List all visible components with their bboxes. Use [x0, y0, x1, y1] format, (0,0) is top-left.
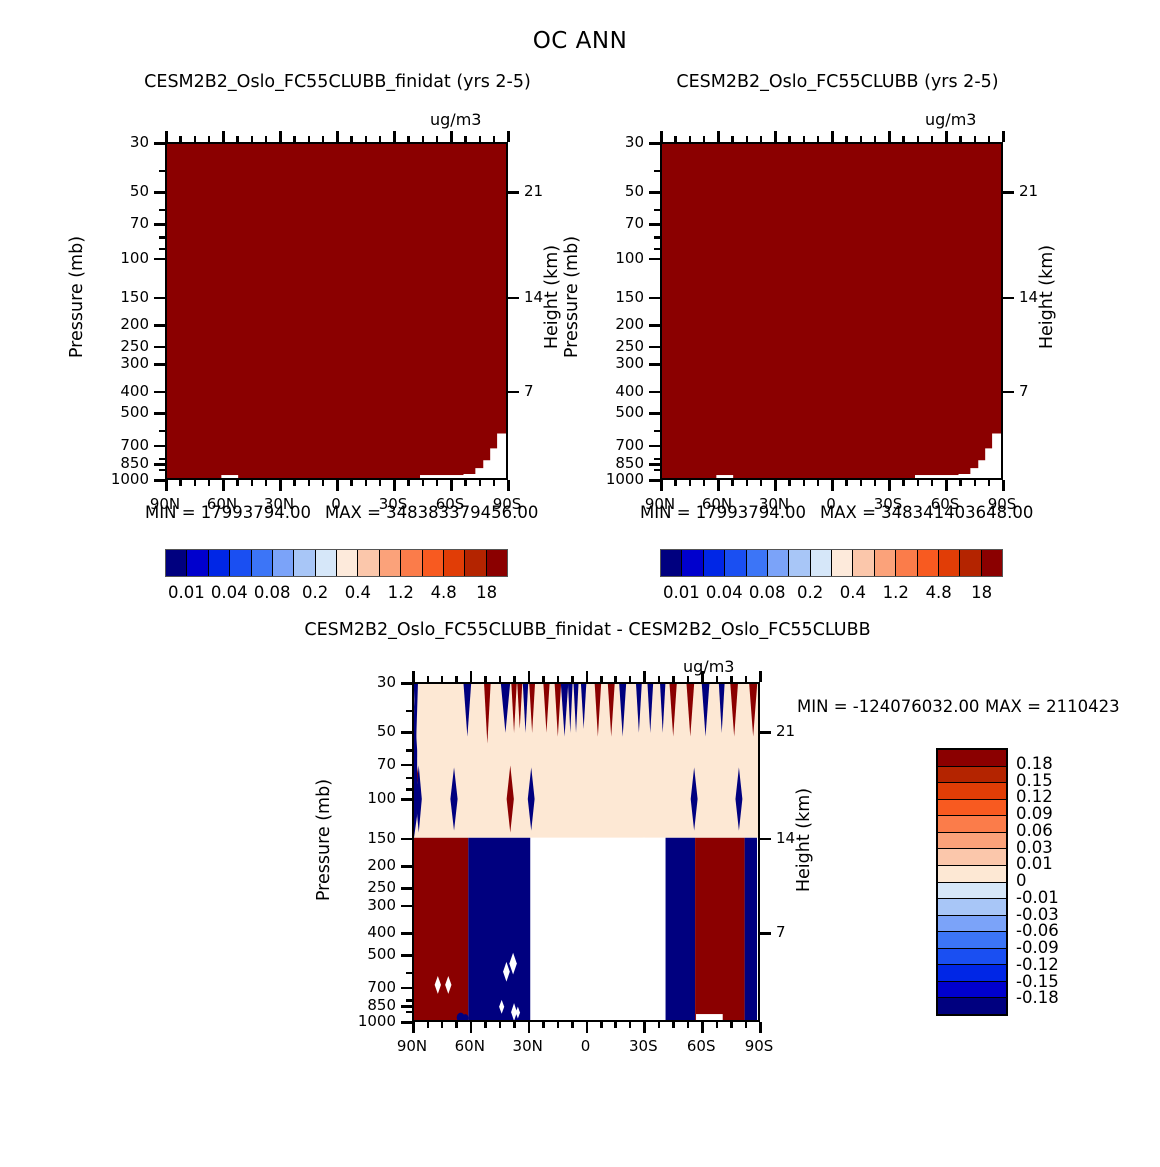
x-axis-tick [493, 480, 496, 486]
plot-fill-bottom-diff [414, 684, 758, 1020]
colorbar-cell[interactable] [661, 550, 682, 576]
bottom-white-notch-south [696, 1014, 723, 1020]
y-axis-tick-label: 30 [324, 673, 396, 691]
colorbar-cell[interactable] [938, 800, 1006, 817]
y2-axis-tick [508, 297, 519, 300]
y-axis-tick-label: 150 [572, 288, 644, 306]
x-axis-tick [365, 480, 368, 486]
x-axis-tick [513, 1022, 516, 1028]
y-axis-tick [649, 223, 660, 226]
x-axis-tick-top [689, 136, 692, 142]
y-axis-tick [401, 954, 412, 957]
x-axis-tick-top [774, 131, 777, 142]
x-axis-tick [831, 480, 834, 491]
x-axis-tick [293, 480, 296, 486]
x-axis-tick [917, 480, 920, 486]
x-axis-tick-top [412, 671, 415, 682]
colorbar-cell[interactable] [853, 550, 874, 576]
colorbar-cell[interactable] [875, 550, 896, 576]
y2-axis-tick [760, 731, 771, 734]
x-axis-tick-top [717, 131, 720, 142]
y-axis-tick [401, 731, 412, 734]
lower-blue-column-north [468, 838, 530, 1020]
x-axis-tick [412, 1022, 415, 1033]
x-axis-tick-top [860, 136, 863, 142]
colorbar-tick-label: -0.18 [1016, 988, 1059, 1007]
x-axis-tick-top [222, 131, 225, 142]
colorbar-cell[interactable] [832, 550, 853, 576]
x-axis-tick-label: 30N [249, 495, 309, 513]
x-axis-tick-top [179, 136, 182, 142]
colorbar-vertical-bottom-diff[interactable] [936, 748, 1008, 1016]
colorbar-cell[interactable] [789, 550, 810, 576]
y-axis-tick-label: 250 [324, 878, 396, 896]
y-axis-tick-label: 1000 [324, 1012, 396, 1030]
x-axis-tick-label: 30S [613, 1037, 673, 1055]
x-axis-tick-top [945, 131, 948, 142]
y-axis-minor-tick [654, 346, 660, 349]
colorbar-cell[interactable] [187, 550, 208, 576]
x-axis-tick-top [674, 136, 677, 142]
y-axis-minor-tick [159, 209, 165, 212]
units-label-bottom-diff: ug/m3 [683, 657, 734, 676]
x-axis-tick [689, 480, 692, 486]
colorbar-cell[interactable] [938, 866, 1006, 883]
y-axis-tick [649, 297, 660, 300]
plot-fill-right-top [662, 144, 1001, 478]
colorbar-cell[interactable] [811, 550, 832, 576]
x-axis-tick-top [208, 136, 211, 142]
x-axis-tick-top [393, 131, 396, 142]
y2-axis-tick [760, 932, 771, 935]
x-axis-tick-top [730, 676, 733, 682]
y-axis-tick [154, 142, 165, 145]
x-axis-tick [817, 480, 820, 486]
x-axis-tick-top [687, 676, 690, 682]
x-axis-tick [731, 480, 734, 486]
colorbar-cell[interactable] [725, 550, 746, 576]
y-axis-tick-label: 100 [572, 249, 644, 267]
x-axis-tick [658, 1022, 661, 1028]
x-axis-tick-top [600, 676, 603, 682]
x-axis-tick-label: 30N [744, 495, 804, 513]
x-axis-tick-top [455, 676, 458, 682]
colorbar-cell[interactable] [209, 550, 230, 576]
x-axis-tick [730, 1022, 733, 1028]
x-axis-tick-top [831, 131, 834, 142]
y-axis-tick-label: 700 [324, 978, 396, 996]
y-axis-tick-label: 500 [77, 403, 149, 421]
x-axis-tick-top [746, 136, 749, 142]
y2-axis-tick [1003, 191, 1014, 194]
y-axis-minor-tick [406, 1011, 412, 1014]
x-axis-tick [672, 1022, 675, 1028]
x-axis-tick [222, 480, 225, 491]
y-axis-tick [401, 1005, 412, 1008]
y-axis-minor-tick [159, 363, 165, 366]
x-axis-tick-top [422, 136, 425, 142]
x-axis-tick [629, 1022, 632, 1028]
x-axis-tick-top [484, 676, 487, 682]
x-axis-tick [427, 1022, 430, 1028]
x-axis-tick-top [507, 131, 510, 142]
colorbar-cell[interactable] [939, 550, 960, 576]
x-axis-tick-top [974, 136, 977, 142]
x-axis-tick-top [788, 136, 791, 142]
y-axis-tick [649, 479, 660, 482]
y-axis-tick-label: 500 [572, 403, 644, 421]
x-axis-tick-label: 90S [972, 495, 1032, 513]
lower-red-column-north [414, 838, 468, 1020]
colorbar-cell[interactable] [380, 550, 401, 576]
y-axis-tick [154, 479, 165, 482]
colorbar-cell[interactable] [960, 550, 981, 576]
colorbar-cell[interactable] [423, 550, 444, 576]
x-axis-tick [988, 480, 991, 486]
colorbar-cell[interactable] [896, 550, 917, 576]
x-axis-tick [701, 1022, 704, 1033]
units-label-left-top: ug/m3 [430, 110, 481, 129]
x-axis-tick [703, 480, 706, 486]
y-axis-minor-tick [406, 777, 412, 780]
y-axis-tick [649, 445, 660, 448]
x-axis-tick-top [308, 136, 311, 142]
x-axis-tick [393, 480, 396, 491]
y2-axis-tick-label: 21 [1019, 182, 1059, 200]
lower-blue-column-south [666, 838, 696, 1020]
y2-axis-tick-label: 21 [776, 722, 816, 740]
y2-axis-tick [508, 191, 519, 194]
colorbar-cell[interactable] [273, 550, 294, 576]
colorbar-cell[interactable] [938, 998, 1006, 1014]
x-axis-tick [687, 1022, 690, 1028]
colorbar-cell[interactable] [938, 783, 1006, 800]
y-axis-tick-label: 150 [77, 288, 149, 306]
x-axis-tick-top [293, 136, 296, 142]
lower-red-column-south [695, 838, 745, 1020]
x-axis-tick [643, 1022, 646, 1033]
colorbar-vertical-labels: 0.180.150.120.090.060.030.010-0.01-0.03-… [1016, 748, 1106, 1016]
y-axis-tick-label: 200 [572, 315, 644, 333]
y-axis-minor-tick [654, 236, 660, 239]
y-axis-tick-label: 70 [324, 755, 396, 773]
x-axis-tick-label: 30S [363, 495, 423, 513]
x-axis-tick [507, 480, 510, 491]
x-axis-tick [484, 1022, 487, 1028]
y-axis-tick [401, 932, 412, 935]
y-axis-tick [154, 324, 165, 327]
x-axis-tick [236, 480, 239, 486]
y-axis-tick [401, 798, 412, 801]
y-axis-tick-label: 700 [572, 436, 644, 454]
colorbar-cell[interactable] [938, 849, 1006, 866]
y-axis-tick-label: 70 [77, 214, 149, 232]
y-axis-tick [649, 463, 660, 466]
colorbar-cell[interactable] [938, 767, 1006, 784]
x-axis-tick [571, 1022, 574, 1028]
y-axis-tick-label: 700 [77, 436, 149, 454]
panel-title-bottom-diff: CESM2B2_Oslo_FC55CLUBB_finidat - CESM2B2… [280, 620, 895, 640]
colorbar-cell[interactable] [401, 550, 422, 576]
x-axis-tick [441, 1022, 444, 1028]
x-axis-tick-top [716, 676, 719, 682]
x-axis-tick-top [817, 136, 820, 142]
y2-axis-tick-label: 7 [776, 923, 816, 941]
x-axis-tick [845, 480, 848, 486]
y-axis-tick [649, 258, 660, 261]
x-axis-tick [179, 480, 182, 486]
x-axis-tick-top [643, 671, 646, 682]
y-axis-tick [649, 142, 660, 145]
colorbar-cell[interactable] [704, 550, 725, 576]
x-axis-tick-top [322, 136, 325, 142]
x-axis-tick [614, 1022, 617, 1028]
y-axis-tick-label: 400 [324, 923, 396, 941]
y-axis-tick-label: 200 [324, 856, 396, 874]
x-axis-tick [959, 480, 962, 486]
colorbar-cell[interactable] [938, 750, 1006, 767]
y2-axis-tick [760, 838, 771, 841]
y-axis-tick-label: 1000 [572, 470, 644, 488]
y-axis-tick-label: 400 [77, 382, 149, 400]
colorbar-cell[interactable] [358, 550, 379, 576]
y-axis-minor-tick [406, 788, 412, 791]
x-axis-tick-label: 90N [135, 495, 195, 513]
colorbar-cell[interactable] [337, 550, 358, 576]
y-axis-minor-tick [159, 469, 165, 472]
y-axis-tick-label: 150 [324, 829, 396, 847]
colorbar-cell[interactable] [938, 932, 1006, 949]
y-axis-tick [154, 445, 165, 448]
y-axis-tick-label: 30 [572, 133, 644, 151]
colorbar-cell[interactable] [230, 550, 251, 576]
colorbar-cell[interactable] [316, 550, 337, 576]
x-axis-tick [336, 480, 339, 491]
plot-area-left-top[interactable] [165, 142, 508, 480]
x-axis-tick-top [279, 131, 282, 142]
x-axis-tick [455, 1022, 458, 1028]
y-axis-minor-tick [159, 236, 165, 239]
y-axis-minor-tick [406, 905, 412, 908]
y-axis-tick-label: 50 [324, 722, 396, 740]
y-axis-tick [154, 223, 165, 226]
y-axis-tick-label: 300 [572, 354, 644, 372]
x-axis-tick [746, 480, 749, 486]
colorbar-cell[interactable] [938, 949, 1006, 966]
y-axis-minor-tick [159, 248, 165, 251]
y-axis-tick-label: 300 [77, 354, 149, 372]
x-axis-tick [542, 1022, 545, 1028]
x-axis-tick-label: 30N [498, 1037, 558, 1055]
x-axis-tick [379, 480, 382, 486]
x-axis-tick-top [672, 676, 675, 682]
column-edge-gap [643, 838, 645, 1020]
y-axis-minor-tick [406, 887, 412, 890]
x-axis-tick-label: 0 [306, 495, 366, 513]
x-axis-tick-top [441, 676, 444, 682]
y-axis-tick [154, 391, 165, 394]
colorbar-cell[interactable] [294, 550, 315, 576]
y-axis-tick-label: 70 [572, 214, 644, 232]
x-axis-tick [464, 480, 467, 486]
x-axis-tick [717, 480, 720, 491]
x-axis-tick-label: 90N [630, 495, 690, 513]
x-axis-tick-top [759, 671, 762, 682]
y-axis-tick [401, 865, 412, 868]
y2-axis-tick-label: 14 [524, 288, 564, 306]
x-axis-tick-top [658, 676, 661, 682]
x-axis-tick-label: 60S [420, 495, 480, 513]
x-axis-tick-top [165, 131, 168, 142]
colorbar-cell[interactable] [938, 816, 1006, 833]
y-axis-tick-label: 200 [77, 315, 149, 333]
colorbar-right-top[interactable] [660, 549, 1003, 577]
colorbar-cell[interactable] [982, 550, 1002, 576]
colorbar-cell[interactable] [938, 916, 1006, 933]
x-axis-tick [803, 480, 806, 486]
x-axis-tick [902, 480, 905, 486]
colorbar-cell[interactable] [768, 550, 789, 576]
x-axis-tick-top [251, 136, 254, 142]
y-axis-tick [401, 987, 412, 990]
x-axis-tick-top [731, 136, 734, 142]
x-axis-tick-top [450, 131, 453, 142]
y-axis-tick [401, 1021, 412, 1024]
colorbar-cell[interactable] [938, 833, 1006, 850]
y-axis-tick-label: 100 [77, 249, 149, 267]
x-axis-tick-top [988, 136, 991, 142]
y-axis-tick-label: 500 [324, 945, 396, 963]
x-axis-tick-top [557, 676, 560, 682]
plot-area-right-top[interactable] [660, 142, 1003, 480]
x-axis-tick [308, 480, 311, 486]
y-axis-tick-label: 100 [324, 789, 396, 807]
x-axis-tick-label: 60N [192, 495, 252, 513]
y2-axis-tick [508, 391, 519, 394]
x-axis-tick-top [528, 671, 531, 682]
y-axis-tick-label: 400 [572, 382, 644, 400]
x-axis-tick [774, 480, 777, 491]
y-axis-tick [649, 412, 660, 415]
colorbar-cell[interactable] [166, 550, 187, 576]
x-axis-tick [716, 1022, 719, 1028]
x-axis-tick [660, 480, 663, 491]
max-label-bottom-diff: MAX = 2110423 [985, 697, 1120, 716]
y-axis-tick [649, 191, 660, 194]
x-axis-tick-label: 90S [477, 495, 537, 513]
x-axis-tick [265, 480, 268, 486]
colorbar-cell[interactable] [465, 550, 486, 576]
x-axis-tick [350, 480, 353, 486]
x-axis-tick-top [470, 671, 473, 682]
lower-blue-sliver-south [745, 838, 757, 1020]
x-axis-tick-top [931, 136, 934, 142]
x-axis-tick-top [586, 671, 589, 682]
y-axis-tick-label: 30 [77, 133, 149, 151]
y2-axis-tick-label: 7 [524, 382, 564, 400]
colorbar-cell[interactable] [444, 550, 465, 576]
x-axis-tick-top [959, 136, 962, 142]
x-axis-tick-top [874, 136, 877, 142]
y-axis-minor-tick [159, 458, 165, 461]
figure-main-title: OC ANN [0, 28, 1160, 54]
x-axis-tick-top [614, 676, 617, 682]
x-axis-tick-label: 60N [440, 1037, 500, 1055]
y-axis-tick [154, 412, 165, 415]
y-axis-minor-tick [654, 363, 660, 366]
x-axis-tick-top [902, 136, 905, 142]
x-axis-tick [888, 480, 891, 491]
y-axis-minor-tick [654, 170, 660, 173]
x-axis-tick-top [479, 136, 482, 142]
colorbar-cell[interactable] [938, 982, 1006, 999]
x-axis-tick [450, 480, 453, 491]
x-axis-tick [165, 480, 168, 491]
x-axis-tick [470, 1022, 473, 1033]
y-axis-minor-tick [654, 430, 660, 433]
x-axis-tick [674, 480, 677, 486]
x-axis-tick-label: 60N [687, 495, 747, 513]
x-axis-tick-top [760, 136, 763, 142]
x-axis-tick-top [336, 131, 339, 142]
plot-area-bottom-diff[interactable] [412, 682, 760, 1022]
colorbar-cell[interactable] [938, 883, 1006, 900]
colorbar-cell[interactable] [747, 550, 768, 576]
x-axis-tick [931, 480, 934, 486]
x-axis-tick-top [888, 131, 891, 142]
x-axis-tick [279, 480, 282, 491]
x-axis-tick [194, 480, 197, 486]
y-axis-tick [649, 324, 660, 327]
colorbar-cell[interactable] [918, 550, 939, 576]
x-axis-tick [745, 1022, 748, 1028]
x-axis-tick-top [427, 676, 430, 682]
panel-title-right-top: CESM2B2_Oslo_FC55CLUBB (yrs 2-5) [530, 72, 1145, 92]
x-axis-tick-top [803, 136, 806, 142]
colorbar-cell[interactable] [938, 965, 1006, 982]
colorbar-cell[interactable] [682, 550, 703, 576]
y2-axis-tick-label: 14 [1019, 288, 1059, 306]
y-axis-minor-tick [654, 458, 660, 461]
y-axis-minor-tick [159, 346, 165, 349]
y2-axis-tick-label: 14 [776, 829, 816, 847]
colorbar-labels-right-top: 0.010.040.080.20.41.24.818 [660, 583, 1003, 607]
y2-axis-tick [1003, 391, 1014, 394]
x-axis-tick-top [701, 671, 704, 682]
y-axis-tick-label: 250 [77, 337, 149, 355]
x-axis-tick-top [236, 136, 239, 142]
x-axis-tick-top [703, 136, 706, 142]
colorbar-left-top[interactable] [165, 549, 508, 577]
x-axis-tick-label: 0 [801, 495, 861, 513]
colorbar-labels-left-top: 0.010.040.080.20.41.24.818 [165, 583, 508, 607]
x-axis-tick-label: 60S [671, 1037, 731, 1055]
colorbar-cell[interactable] [487, 550, 507, 576]
y-axis-minor-tick [406, 749, 412, 752]
colorbar-cell[interactable] [252, 550, 273, 576]
x-axis-tick-top [493, 136, 496, 142]
x-axis-tick-top [629, 676, 632, 682]
x-axis-tick-top [499, 676, 502, 682]
colorbar-cell[interactable] [938, 899, 1006, 916]
x-axis-tick [760, 480, 763, 486]
x-axis-tick-label: 60S [915, 495, 975, 513]
x-axis-tick [974, 480, 977, 486]
x-axis-tick [436, 480, 439, 486]
x-axis-tick-label: 90N [382, 1037, 442, 1055]
y-axis-minor-tick [159, 430, 165, 433]
y-axis-tick [154, 297, 165, 300]
